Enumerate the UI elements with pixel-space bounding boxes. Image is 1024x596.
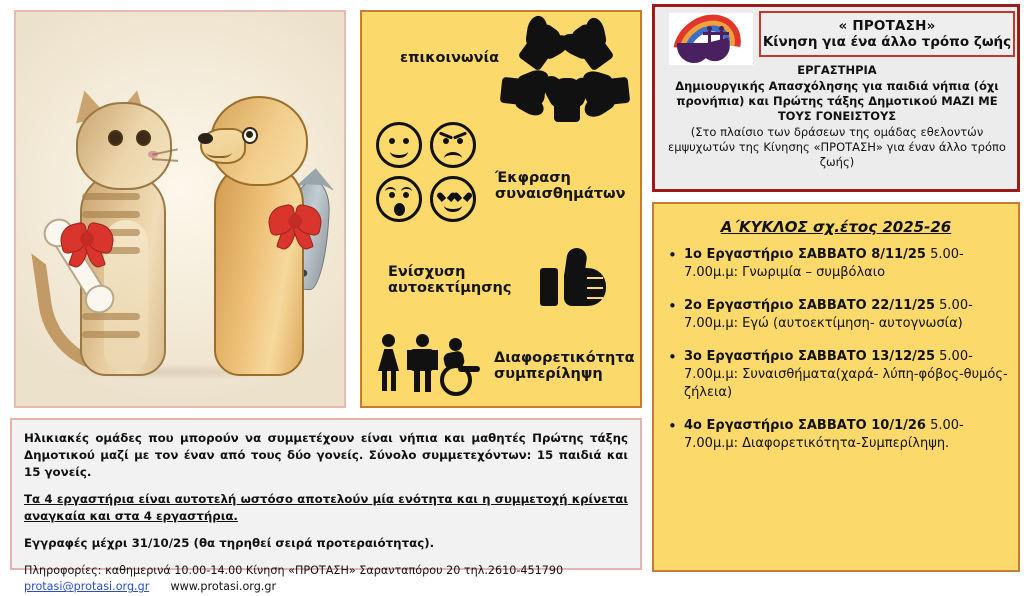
concept-label-selfesteem: Ενίσχυση αυτοεκτίμησης (388, 264, 508, 296)
workshops-description: Δημιουργικής Απασχόλησης για παιδιά νήπι… (661, 79, 1013, 124)
happy-face-icon (376, 122, 422, 168)
dog-red-bow (268, 206, 322, 236)
illustration-panel (14, 10, 346, 408)
schedule-item: 4ο Εργαστήριο ΣΑΒΒΑΤΟ 10/1/26 5.00-7.00μ… (664, 417, 1010, 453)
concept-label-diversity-line1: Διαφορετικότητα (494, 350, 634, 366)
schedule-panel: Α΄ΚΥΚΛΟΣ σχ.έτος 2025-26 1ο Εργαστήριο Σ… (652, 202, 1020, 572)
hands-circle-icon (504, 16, 632, 134)
concept-label-communication: επικοινωνία (400, 50, 499, 66)
protasi-rainbow-hand-logo-icon (669, 13, 753, 65)
concept-label-diversity: Διαφορετικότητα συμπερίληψη (494, 350, 634, 382)
cat-illustration (56, 66, 186, 386)
dog-mouth (206, 144, 232, 158)
schedule-item: 1ο Εργαστήριο ΣΑΒΒΑΤΟ 8/11/25 5.00-7.00μ… (664, 246, 1010, 282)
dog-body (214, 162, 304, 376)
workshops-note: (Στο πλαίσιο των δράσεων της ομάδας εθελ… (661, 125, 1013, 170)
contact-line: Πληροφορίες: καθημερινά 10.00-14.00 Κίνη… (24, 564, 563, 577)
participation-info-panel: Ηλικιακές ομάδες που μπορούν να συμμετέχ… (10, 418, 642, 570)
dog-eye (242, 127, 258, 144)
dog-illustration (192, 66, 322, 386)
cat-eye-left (108, 130, 123, 146)
schedule-item: 3ο Εργαστήριο ΣΑΒΒΑΤΟ 13/12/25 5.00-7.00… (664, 348, 1010, 402)
concept-label-expression-line1: Έκφραση (495, 170, 615, 186)
concept-label-diversity-line2: συμπερίληψη (494, 366, 634, 382)
website-text: www.protasi.org.gr (170, 580, 276, 593)
contact-block: Πληροφορίες: καθημερινά 10.00-14.00 Κίνη… (24, 563, 628, 596)
dog-nose (198, 133, 213, 144)
schedule-item-head: 3ο Εργαστήριο ΣΑΒΒΑΤΟ 13/12/25 (684, 349, 935, 364)
organization-title-line2: Κίνηση για ένα άλλο τρόπο ζωής (763, 34, 1011, 50)
workshops-heading: ΕΡΓΑΣΤΗΡΙΑ (661, 63, 1013, 77)
concept-label-expression-line2: συναισθημάτων (495, 186, 615, 202)
concepts-panel: επικοινωνία Έκφραση συναισθημάτων Ενίσχυ… (360, 10, 642, 408)
angry-face-icon (430, 122, 476, 168)
age-groups-paragraph: Ηλικιακές ομάδες που μπορούν να συμμετέχ… (24, 430, 628, 481)
thumbs-up-icon (540, 250, 612, 312)
schedule-item: 2ο Εργαστήριο ΣΑΒΒΑΤΟ 22/11/25 5.00-7.00… (664, 297, 1010, 333)
surprised-face-icon (376, 176, 422, 222)
schedule-list: 1ο Εργαστήριο ΣΑΒΒΑΤΟ 8/11/25 5.00-7.00μ… (664, 246, 1010, 452)
schedule-item-head: 1ο Εργαστήριο ΣΑΒΒΑΤΟ 8/11/25 (684, 247, 926, 262)
concept-label-selfesteem-line2: αυτοεκτίμησης (388, 280, 508, 296)
diversity-people-icon (376, 334, 484, 398)
email-link[interactable]: protasi@protasi.org.gr (24, 580, 149, 593)
concept-label-expression: Έκφραση συναισθημάτων (495, 170, 615, 202)
schedule-title: Α΄ΚΥΚΛΟΣ σχ.έτος 2025-26 (664, 218, 1008, 236)
cat-red-bow (60, 224, 114, 254)
heart-eyes-face-icon (430, 176, 476, 222)
organization-body: ΕΡΓΑΣΤΗΡΙΑ Δημιουργικής Απασχόλησης για … (661, 63, 1013, 170)
concept-label-selfesteem-line1: Ενίσχυση (388, 264, 508, 280)
emoji-faces-icon (374, 120, 484, 230)
organization-title-line1: « ΠΡΟΤΑΣΗ» (839, 18, 936, 34)
workshop-unity-paragraph: Τα 4 εργαστήρια είναι αυτοτελή ωστόσο απ… (24, 491, 628, 525)
organization-title-box: « ΠΡΟΤΑΣΗ» Κίνηση για ένα άλλο τρόπο ζωή… (759, 11, 1015, 57)
registration-deadline-paragraph: Εγγραφές μέχρι 31/10/25 (θα τηρηθεί σειρ… (24, 535, 628, 552)
schedule-item-head: 4ο Εργαστήριο ΣΑΒΒΑΤΟ 10/1/26 (684, 418, 926, 433)
organization-header-panel: « ΠΡΟΤΑΣΗ» Κίνηση για ένα άλλο τρόπο ζωή… (652, 4, 1020, 192)
cat-head (76, 102, 172, 190)
schedule-item-head: 2ο Εργαστήριο ΣΑΒΒΑΤΟ 22/11/25 (684, 298, 935, 313)
cat-eye-right (136, 130, 151, 146)
